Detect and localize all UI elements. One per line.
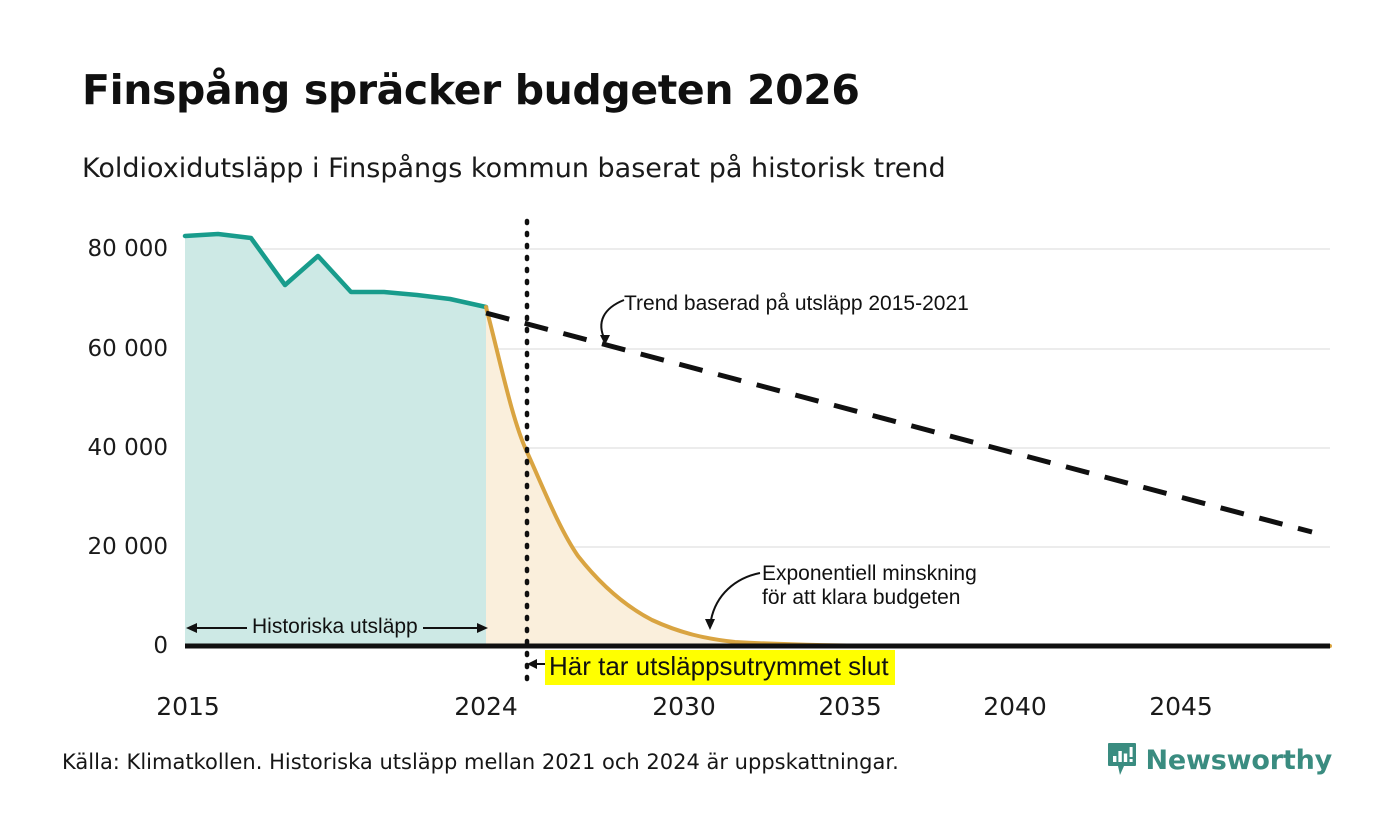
exponential-leader-arrow (705, 619, 715, 630)
trend-line (486, 313, 1312, 532)
source-note: Källa: Klimatkollen. Historiska utsläpp … (62, 750, 899, 774)
annotation-exponential-line1: Exponentiell minskning (762, 562, 977, 585)
y-tick-20000: 20 000 (48, 534, 168, 560)
annotation-trend: Trend baserad på utsläpp 2015-2021 (624, 292, 969, 316)
x-tick-2030: 2030 (652, 692, 716, 721)
newsworthy-wordmark: Newsworthy (1146, 745, 1332, 776)
exponential-leader-line (711, 573, 760, 620)
y-tick-0: 0 (48, 633, 168, 659)
x-tick-2024: 2024 (454, 692, 518, 721)
y-axis-labels: 80 000 60 000 40 000 20 000 0 (48, 0, 168, 840)
annotation-historical-span: Historiska utsläpp (247, 615, 423, 639)
x-tick-2015: 2015 (156, 692, 220, 721)
y-tick-40000: 40 000 (48, 435, 168, 461)
annotation-exponential-line2: för att klara budgeten (762, 586, 960, 609)
annotation-budget-end: Här tar utsläppsutrymmet slut (545, 650, 895, 685)
chart-page: Finspång spräcker budgeten 2026 Koldioxi… (0, 0, 1400, 840)
newsworthy-mark-icon (1107, 742, 1137, 778)
y-tick-60000: 60 000 (48, 336, 168, 362)
trend-leader-line (601, 300, 624, 340)
x-tick-2040: 2040 (983, 692, 1047, 721)
y-tick-80000: 80 000 (48, 236, 168, 262)
newsworthy-logo: Newsworthy (1107, 742, 1332, 778)
x-tick-2045: 2045 (1149, 692, 1213, 721)
annotation-exponential: Exponentiell minskning för att klara bud… (762, 562, 977, 609)
x-tick-2035: 2035 (818, 692, 882, 721)
